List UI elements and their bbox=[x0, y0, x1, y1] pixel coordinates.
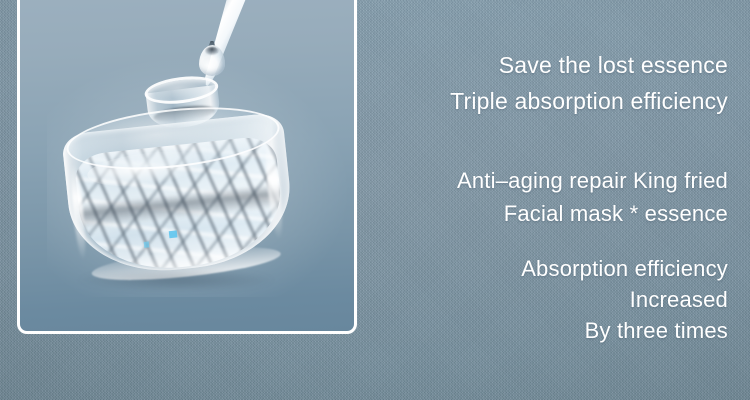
marketing-copy: Save the lost essence Triple absorption … bbox=[380, 0, 728, 400]
serum-droplet-icon bbox=[198, 41, 226, 77]
headline-line-1: Save the lost essence bbox=[499, 52, 728, 79]
glass-serum-jar bbox=[60, 98, 299, 292]
liquid-accent-1 bbox=[169, 231, 178, 239]
claim-line-3: By three times bbox=[585, 318, 728, 344]
claim-line-2: Increased bbox=[630, 287, 728, 313]
droplet-shadow bbox=[205, 47, 219, 55]
product-photo bbox=[20, 0, 354, 331]
product-banner: Save the lost essence Triple absorption … bbox=[0, 0, 750, 400]
product-line-2: Facial mask * essence bbox=[504, 201, 728, 227]
headline-line-2: Triple absorption efficiency bbox=[450, 88, 728, 115]
jar-drop-shadow bbox=[78, 269, 274, 291]
liquid-accent-2 bbox=[143, 241, 149, 247]
product-photo-frame bbox=[17, 0, 357, 334]
product-line-1: Anti–aging repair King fried bbox=[457, 168, 728, 194]
claim-line-1: Absorption efficiency bbox=[521, 256, 728, 282]
